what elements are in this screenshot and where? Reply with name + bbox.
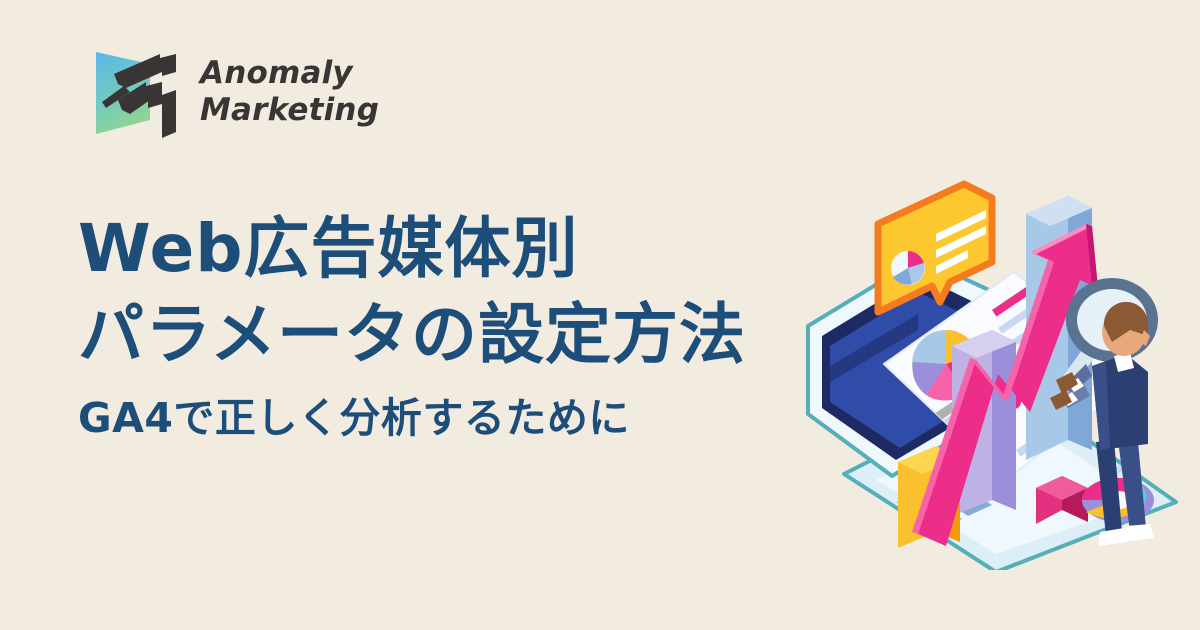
logo-wordmark: Anomaly Marketing xyxy=(200,55,379,128)
site-logo[interactable]: Anomaly Marketing xyxy=(88,42,379,142)
logo-word-line-2: Marketing xyxy=(200,92,379,129)
isometric-data-analysis-illustration xyxy=(800,150,1200,570)
anomaly-gradient-chevron-mark-icon xyxy=(88,42,184,142)
subtitle: GA4で正しく分析するために xyxy=(78,390,746,447)
thumbnail-canvas: Anomaly Marketing Web広告媒体別 パラメータの設定方法 GA… xyxy=(0,0,1200,630)
title-line-2: パラメータの設定方法 xyxy=(78,292,746,378)
title-line-1: Web広告媒体別 xyxy=(78,206,746,292)
bubble-pie-icon xyxy=(891,251,925,285)
logo-word-line-1: Anomaly xyxy=(200,55,379,92)
headline-block: Web広告媒体別 パラメータの設定方法 GA4で正しく分析するために xyxy=(78,206,746,447)
